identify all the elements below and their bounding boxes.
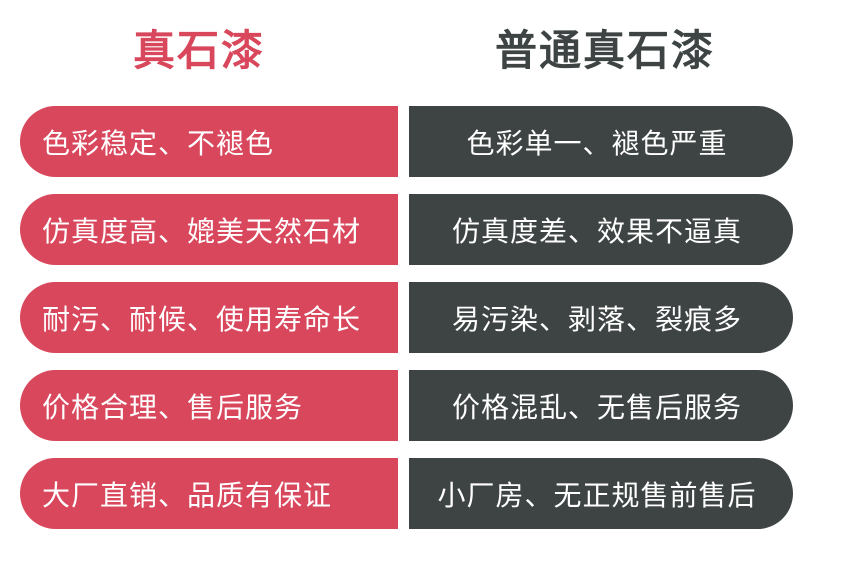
- comparison-rows: 色彩稳定、不褪色 色彩单一、褪色严重 仿真度高、媲美天然石材 仿真度差、效果不逼…: [0, 106, 842, 529]
- con-pill-2: 仿真度差、效果不逼真: [409, 194, 793, 265]
- con-pill-4: 价格混乱、无售后服务: [409, 370, 793, 441]
- con-pill-3: 易污染、剥落、裂痕多: [409, 282, 793, 353]
- pro-pill-4: 价格合理、售后服务: [20, 370, 398, 441]
- comparison-headings: 真石漆 普通真石漆: [0, 0, 842, 100]
- pro-pill-2: 仿真度高、媲美天然石材: [20, 194, 398, 265]
- comparison-row: 耐污、耐候、使用寿命长 易污染、剥落、裂痕多: [0, 282, 842, 353]
- comparison-row: 大厂直销、品质有保证 小厂房、无正规售前售后: [0, 458, 842, 529]
- pro-pill-3: 耐污、耐候、使用寿命长: [20, 282, 398, 353]
- heading-product-ordinary: 普通真石漆: [398, 20, 842, 82]
- con-pill-5: 小厂房、无正规售前售后: [409, 458, 793, 529]
- comparison-table: 真石漆 普通真石漆 色彩稳定、不褪色 色彩单一、褪色严重 仿真度高、媲美天然石材…: [0, 0, 842, 573]
- comparison-row: 价格合理、售后服务 价格混乱、无售后服务: [0, 370, 842, 441]
- con-pill-1: 色彩单一、褪色严重: [409, 106, 793, 177]
- comparison-row: 色彩稳定、不褪色 色彩单一、褪色严重: [0, 106, 842, 177]
- heading-product-premium: 真石漆: [0, 20, 398, 82]
- pro-pill-5: 大厂直销、品质有保证: [20, 458, 398, 529]
- pro-pill-1: 色彩稳定、不褪色: [20, 106, 398, 177]
- comparison-row: 仿真度高、媲美天然石材 仿真度差、效果不逼真: [0, 194, 842, 265]
